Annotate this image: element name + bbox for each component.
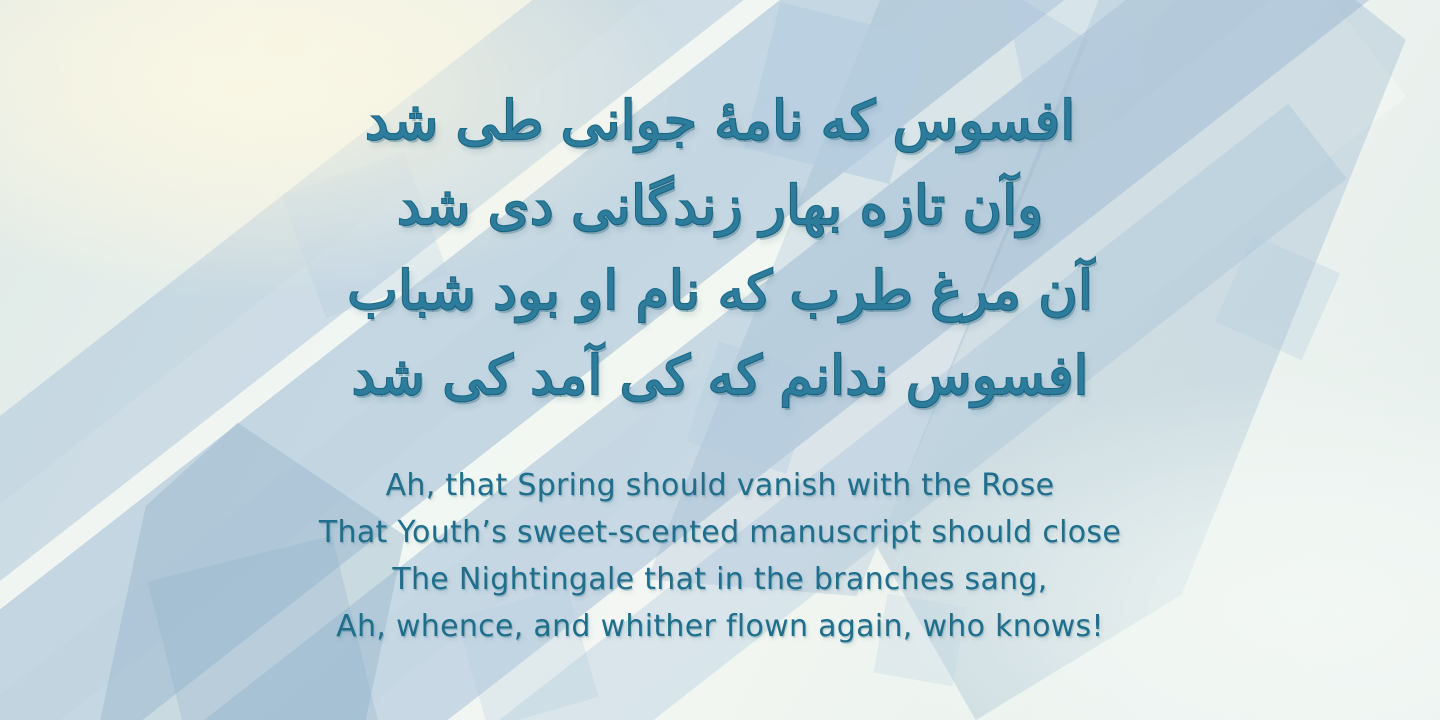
persian-line-3: آن مرغ طرب که نام او بود شباب	[0, 248, 1440, 333]
english-line-2: That Youth’s sweet-scented manuscript sh…	[0, 509, 1440, 556]
persian-line-2: وآن تازه بهار زندگانی دی شد	[0, 163, 1440, 248]
english-line-4: Ah, whence, and whither flown again, who…	[0, 603, 1440, 650]
persian-line-4: افسوس ندانم که کی آمد کی شد	[0, 333, 1440, 418]
english-translation-block: Ah, that Spring should vanish with the R…	[0, 462, 1440, 650]
english-line-3: The Nightingale that in the branches san…	[0, 556, 1440, 603]
english-line-1: Ah, that Spring should vanish with the R…	[0, 462, 1440, 509]
font-specimen-poster: افسوس که نامهٔ جوانی طی شد وآن تازه بهار…	[0, 0, 1440, 720]
persian-line-1: افسوس که نامهٔ جوانی طی شد	[0, 78, 1440, 163]
persian-poem-block: افسوس که نامهٔ جوانی طی شد وآن تازه بهار…	[0, 78, 1440, 418]
